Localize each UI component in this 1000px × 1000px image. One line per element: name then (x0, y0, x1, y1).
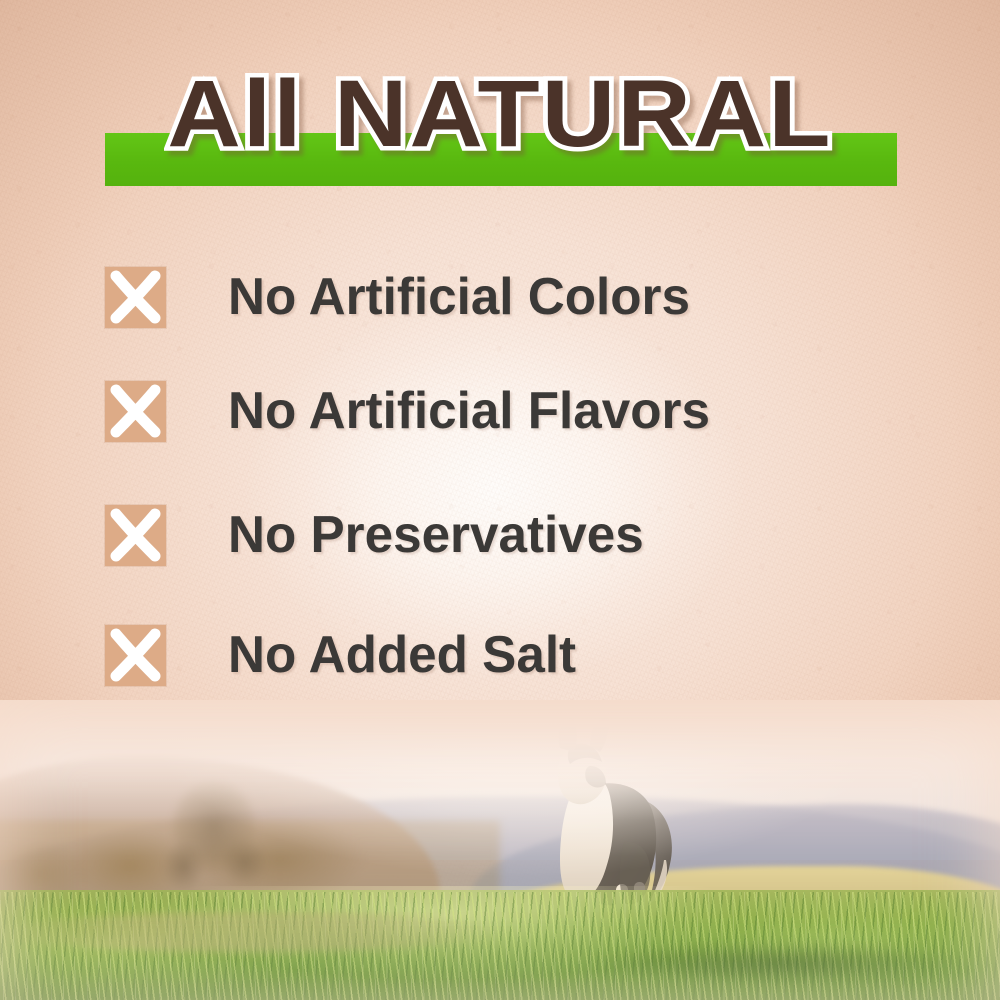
list-item-label: No Artificial Colors (228, 271, 690, 323)
list-item: No Added Salt (105, 624, 581, 686)
claims-list: No Artificial Colors No Artificial Flavo… (0, 0, 1000, 700)
list-item-label: No Added Salt (228, 629, 576, 681)
list-item: No Artificial Colors (105, 266, 697, 328)
x-mark-icon (105, 505, 166, 566)
list-item: No Artificial Flavors (105, 380, 717, 442)
x-mark-icon (105, 381, 166, 442)
product-feature-graphic: All NATURAL No Artificial Colors No Arti… (0, 0, 1000, 1000)
x-mark-icon (105, 267, 166, 328)
list-item-label: No Artificial Flavors (228, 385, 710, 437)
bare-tree (148, 766, 278, 906)
dirt-path (0, 912, 510, 952)
list-item-label: No Preservatives (228, 509, 644, 561)
meadow-dog-photo (0, 700, 1000, 1000)
grass-shadow (520, 936, 1000, 992)
x-mark-icon (105, 625, 166, 686)
list-item: No Preservatives (105, 504, 650, 566)
